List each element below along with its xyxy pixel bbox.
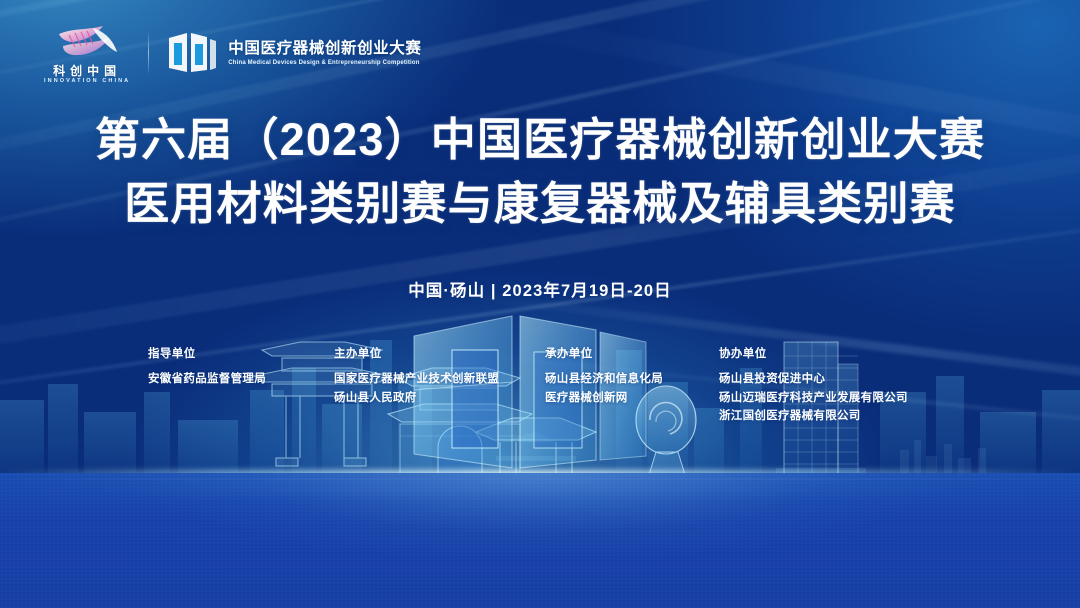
org-heading: 指导单位 [148, 345, 334, 361]
competition-wordmark: 中国医疗器械创新创业大赛 China Medical Devices Desig… [228, 41, 421, 67]
org-column-coorganizer: 协办单位 砀山县投资促进中心 砀山迈瑞医疗科技产业发展有限公司 浙江国创医疗器械… [719, 345, 989, 426]
org-column-organizer: 承办单位 砀山县经济和信息化局 医疗器械创新网 [545, 345, 719, 426]
ground-reflection [0, 473, 1080, 608]
logo-competition: 中国医疗器械创新创业大赛 China Medical Devices Desig… [167, 30, 421, 76]
org-column-guidance: 指导单位 安徽省药品监督管理局 [148, 345, 334, 426]
org-item: 医疗器械创新网 [545, 389, 719, 408]
logo-bar: 科创中国 INNOVATION CHINA 中国医疗器械创新创业大赛 China… [44, 22, 421, 85]
org-heading: 协办单位 [719, 345, 989, 361]
org-heading: 承办单位 [545, 345, 719, 361]
innovation-china-cn: 科创中国 [44, 65, 130, 77]
competition-name-cn: 中国医疗器械创新创业大赛 [228, 41, 421, 57]
org-item: 砀山县人民政府 [334, 389, 545, 408]
org-column-host: 主办单位 国家医疗器械产业技术创新联盟 砀山县人民政府 [334, 345, 545, 426]
innovation-china-wordmark: 科创中国 INNOVATION CHINA [44, 65, 130, 85]
org-item: 安徽省药品监督管理局 [148, 370, 334, 389]
org-item: 砀山迈瑞医疗科技产业发展有限公司 [719, 389, 989, 408]
org-item: 浙江国创医疗器械有限公司 [719, 407, 989, 426]
org-item: 国家医疗器械产业技术创新联盟 [334, 370, 545, 389]
event-poster: 科创中国 INNOVATION CHINA 中国医疗器械创新创业大赛 China… [0, 0, 1080, 608]
org-item: 砀山县经济和信息化局 [545, 370, 719, 389]
logo-innovation-china: 科创中国 INNOVATION CHINA [44, 22, 130, 85]
title-line-2: 医用材料类别赛与康复器械及辅具类别赛 [0, 172, 1080, 236]
organization-list: 指导单位 安徽省药品监督管理局 主办单位 国家医疗器械产业技术创新联盟 砀山县人… [148, 345, 989, 426]
competition-name-en: China Medical Devices Design & Entrepren… [228, 60, 421, 66]
poster-title: 第六届（2023）中国医疗器械创新创业大赛 医用材料类别赛与康复器械及辅具类别赛 [0, 108, 1080, 236]
innovation-china-en: INNOVATION CHINA [44, 79, 130, 85]
open-door-window-emblem [167, 30, 217, 76]
org-heading: 主办单位 [334, 345, 545, 361]
logo-divider [148, 30, 149, 76]
org-item: 砀山县投资促进中心 [719, 370, 989, 389]
title-line-1: 第六届（2023）中国医疗器械创新创业大赛 [0, 108, 1080, 172]
venue-and-date: 中国·砀山 | 2023年7月19日-20日 [0, 277, 1080, 301]
innovation-china-bird-emblem [49, 22, 125, 62]
